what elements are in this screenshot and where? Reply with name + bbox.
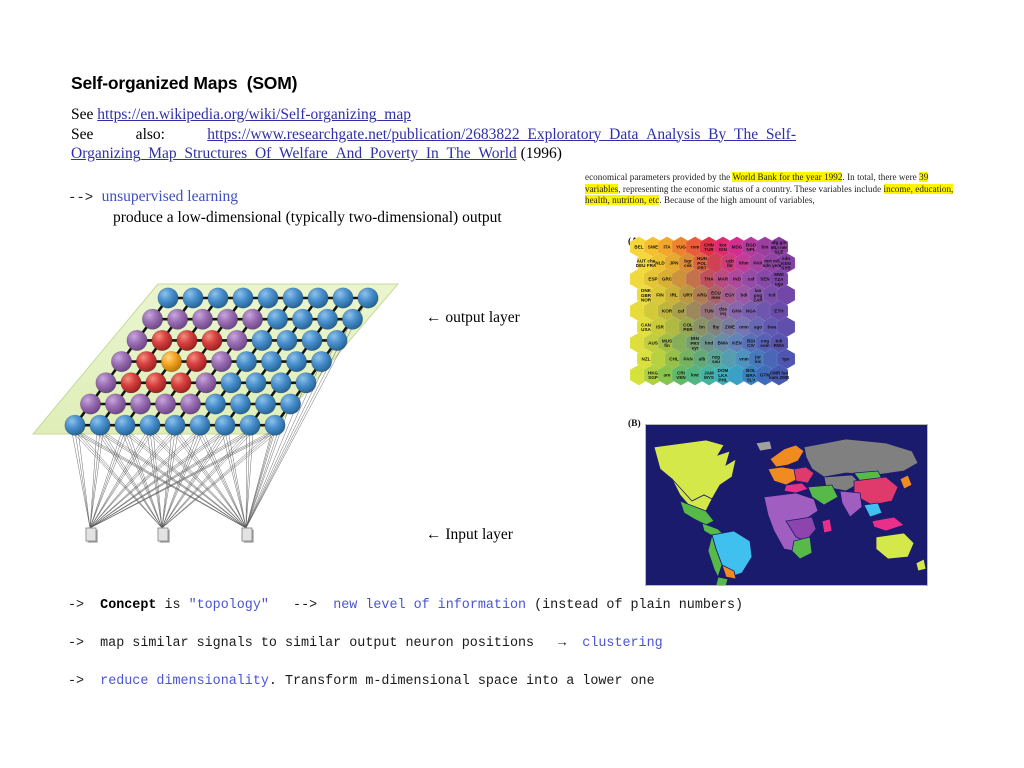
see-also-prefix: See also:	[71, 126, 207, 143]
som-hex-label: tgo	[782, 357, 789, 362]
neuron-node	[296, 373, 316, 393]
som-hex-label: TUN	[704, 309, 714, 314]
som-hex-label: BWA	[718, 341, 729, 346]
som-hex-label: rom	[691, 245, 700, 250]
input-layer-label: ← Input layer	[426, 526, 513, 544]
som-hex-label: ARG	[697, 293, 708, 298]
neuron-node	[115, 415, 135, 435]
neuron-node	[158, 288, 178, 308]
som-hex-label: ITA	[663, 245, 671, 250]
som-hex-map: BELSWEITAYUGromCHNTURkorIDNMDGBGDNPLbina…	[627, 231, 932, 411]
som-hex-label: COLPER	[683, 322, 693, 332]
neuron-node	[302, 330, 322, 350]
som-hex-label: hnd	[705, 341, 714, 346]
som-hex-label: SEN	[760, 277, 770, 282]
neuron-node	[333, 288, 353, 308]
som-hex-label: GRC	[662, 277, 673, 282]
neuron-node	[90, 415, 110, 435]
som-hex-label: uzblbr	[726, 258, 734, 268]
figure-tag-b: (B)	[628, 419, 641, 429]
som-hex-label: omn	[739, 325, 749, 330]
neuron-node	[167, 309, 187, 329]
som-hex-map-svg: BELSWEITAYUGromCHNTURkorIDNMDGBGDNPLbina…	[627, 231, 932, 411]
som-hex-label: THA	[704, 277, 714, 282]
som-hex-label: ESP	[648, 277, 657, 282]
som-hex-label: bdi	[741, 293, 748, 298]
som-hex-label: FIN	[656, 293, 664, 298]
som-hex-label: GHA	[732, 309, 743, 314]
neuron-node	[286, 351, 306, 371]
neuron-node	[246, 373, 266, 393]
som-network-svg	[30, 270, 430, 560]
som-hex-label: alb	[699, 357, 706, 362]
neuron-node	[230, 394, 250, 414]
world-map	[645, 424, 928, 586]
som-hex-label: vnm	[739, 357, 748, 362]
bottom-seg-0-5: new level of information	[333, 598, 526, 613]
scanned-paragraph: economical parameters provided by the Wo…	[585, 172, 960, 207]
neuron-node	[327, 330, 347, 350]
som-hex-label: bgrcsk	[684, 258, 692, 268]
bottom-seg-0-1: Concept	[100, 598, 156, 613]
som-hex-label: MAR	[718, 277, 729, 282]
som-hex-label: are	[664, 373, 671, 378]
bullet-unsupervised-detail: produce a low-dimensional (typically two…	[113, 209, 502, 227]
neuron-node	[130, 394, 150, 414]
bottom-line-clustering: -> map similar signals to similar output…	[68, 636, 663, 651]
som-hex-label: ZWE	[725, 325, 735, 330]
region-madagascar	[822, 519, 832, 533]
som-hex-label: khm	[739, 261, 748, 266]
wikipedia-link[interactable]: https://en.wikipedia.org/wiki/Self-organ…	[97, 106, 411, 123]
paragraph-text-2: . In total, there were	[842, 172, 919, 182]
neuron-node	[96, 373, 116, 393]
neuron-node	[183, 288, 203, 308]
neuron-node	[255, 394, 275, 414]
som-hex-label: CRIVEN	[676, 370, 686, 380]
bottom-seg-0-0: ->	[68, 598, 100, 613]
input-node-3	[242, 528, 254, 543]
som-hex-label: lby	[713, 325, 720, 330]
som-hex-label: ETH	[774, 309, 784, 314]
som-hex-label: AUS	[648, 341, 658, 346]
output-layer-label: ← output layer	[426, 309, 520, 327]
neuron-node	[236, 351, 256, 371]
som-hex-label: PAN	[683, 357, 693, 362]
som-hex-label: AUT cheDEU FRA	[636, 258, 657, 268]
neuron-node	[342, 309, 362, 329]
neuron-node	[221, 373, 241, 393]
neuron-node	[155, 394, 175, 414]
neuron-node	[140, 415, 160, 435]
neuron-node	[111, 351, 131, 371]
neuron-node	[265, 415, 285, 435]
neuron-node	[177, 330, 197, 350]
som-hex-label: KOR	[662, 309, 673, 314]
world-map-svg	[646, 425, 927, 585]
neuron-node	[242, 309, 262, 329]
input-node-1	[86, 528, 98, 543]
slide-canvas: Self-organized Maps (SOM) See https://en…	[0, 0, 1024, 768]
neuron-node	[146, 373, 166, 393]
som-hex-label: BDICIV	[747, 338, 756, 348]
neuron-node	[283, 288, 303, 308]
som-hex-label: IRL	[670, 293, 678, 298]
som-hex-label: BGDNPL	[746, 242, 757, 252]
reference-links: See https://en.wikipedia.org/wiki/Self-o…	[71, 105, 796, 164]
neuron-node	[308, 288, 328, 308]
bottom-seg-2-2: . Transform m-dimensional space into a l…	[269, 674, 655, 689]
som-hex-label: HUNPOLPRT	[697, 256, 708, 271]
neuron-node	[121, 373, 141, 393]
input-neurons	[86, 528, 254, 543]
neuron-node	[215, 415, 235, 435]
paragraph-text-0: economical parameters provided by the	[585, 172, 732, 182]
neuron-node	[358, 288, 378, 308]
neuron-node	[127, 330, 147, 350]
neuron-node	[261, 351, 281, 371]
som-hex-label: YUG	[676, 245, 686, 250]
neuron-node	[152, 330, 172, 350]
som-hex-label: IND	[733, 277, 742, 282]
som-hex-label: NZL	[642, 357, 651, 362]
neuron-node	[258, 288, 278, 308]
som-hex-label: MWITZAuga	[774, 272, 784, 287]
neuron-node	[252, 330, 272, 350]
neuron-node	[136, 351, 156, 371]
page-title: Self-organized Maps (SOM)	[71, 73, 297, 94]
som-hex-label: CMR lsonam ZMB	[769, 370, 790, 380]
som-hex-label: MDG	[732, 245, 743, 250]
bottom-seg-0-4: -->	[269, 598, 333, 613]
bottom-seg-0-6: (instead of plain numbers)	[526, 598, 743, 613]
publication-year: (1996)	[517, 145, 562, 162]
bottom-seg-0-2: is	[156, 598, 188, 613]
neuron-node	[267, 309, 287, 329]
som-hex-label: zaf	[678, 309, 685, 314]
neuron-node	[292, 309, 312, 329]
neuron-node	[311, 351, 331, 371]
som-hex-label: KEN	[732, 341, 742, 346]
neuron-node	[217, 309, 237, 329]
som-hex-label: NLD	[655, 261, 665, 266]
som-hex-label: BEL	[634, 245, 643, 250]
neuron-node	[80, 394, 100, 414]
som-hex-label: nzgsau	[712, 354, 720, 364]
som-network-diagram	[30, 270, 430, 560]
som-hex-label: korIDN	[719, 242, 728, 252]
neuron-node	[65, 415, 85, 435]
som-hex-label: BOLBRASLV	[746, 368, 757, 383]
neuron-node	[208, 288, 228, 308]
bottom-seg-1-1: clustering	[582, 636, 662, 651]
bottom-seg-1-0: -> map similar signals to similar output…	[68, 636, 582, 651]
neuron-node	[233, 288, 253, 308]
som-hex-label: cogsom	[760, 338, 769, 348]
neuron-node	[277, 330, 297, 350]
som-hex-label: mrt mlisdn yem	[763, 258, 782, 268]
som-hex-label: bin	[762, 245, 769, 250]
som-hex-label: NGA	[746, 309, 757, 314]
som-hex-label: URY	[683, 293, 693, 298]
bottom-line-concept: -> Concept is "topology" --> new level o…	[68, 598, 743, 613]
som-hex-label: JPN	[670, 261, 680, 266]
som-hex-label: kwt	[691, 373, 699, 378]
neuron-node	[202, 330, 222, 350]
bullet-unsupervised: --> unsupervised learning	[68, 188, 238, 206]
neuron-node	[271, 373, 291, 393]
som-hex-label: IRNPRYsyr	[690, 336, 699, 351]
unsupervised-learning-text: unsupervised learning	[102, 188, 238, 205]
neuron-node	[205, 394, 225, 414]
som-hex-label: HKGSGP	[648, 370, 659, 380]
bottom-seg-0-3: "topology"	[189, 598, 269, 613]
som-hex-label: tcd	[769, 293, 776, 298]
paragraph-text-4: , representing the economic status of a …	[618, 184, 883, 194]
neuron-node	[192, 309, 212, 329]
som-hex-label: ago	[754, 325, 762, 330]
som-hex-label: caf	[748, 277, 755, 282]
neuron-node	[180, 394, 200, 414]
som-hex-label: CHNTUR	[704, 242, 715, 252]
neuron-node	[211, 351, 231, 371]
som-hex-label: SWE	[648, 245, 658, 250]
neuron-node	[240, 415, 260, 435]
neuron-node	[196, 373, 216, 393]
paragraph-text-6: . Because of the high amount of variable…	[659, 195, 814, 205]
bottom-line-dimensionality: -> reduce dimensionality. Transform m-di…	[68, 674, 655, 689]
neuron-node	[190, 415, 210, 435]
neuron-node	[227, 330, 247, 350]
neuron-node	[105, 394, 125, 414]
neuron-node	[186, 351, 206, 371]
som-hex-label: CHL	[669, 357, 679, 362]
highlighted-text-1: World Bank for the year 1992	[732, 172, 842, 182]
neuron-node	[280, 394, 300, 414]
som-hex-label: ECUmex	[711, 290, 721, 300]
som-hex-label: jornic	[754, 354, 762, 364]
see-prefix: See	[71, 106, 97, 123]
som-hex-label: ISR	[656, 325, 664, 330]
neuron-node	[165, 415, 185, 435]
som-hex-label: JAMMYS	[704, 370, 714, 380]
som-hex-label: DNKGBRNOR	[641, 288, 652, 303]
som-hex-label: sdnKENSYR	[781, 256, 791, 271]
arrow-marker: -->	[68, 190, 102, 206]
som-hex-label: bwa	[768, 325, 777, 330]
bottom-seg-2-1: reduce dimensionality	[100, 674, 269, 689]
input-node-2	[158, 528, 170, 543]
som-hex-label: DOMLKAPHL	[718, 368, 729, 383]
link-line-researchgate: See also: https://www.researchgate.net/p…	[71, 125, 796, 164]
som-hex-label: bn	[699, 325, 705, 330]
neuron-node	[142, 309, 162, 329]
som-hex-label: CANUSA	[641, 322, 652, 332]
link-line-wikipedia: See https://en.wikipedia.org/wiki/Self-o…	[71, 105, 796, 125]
neuron-node	[317, 309, 337, 329]
neuron-node	[171, 373, 191, 393]
som-hex-label: EGY	[725, 293, 735, 298]
neuron-node	[161, 351, 181, 371]
bottom-seg-2-0: ->	[68, 674, 100, 689]
